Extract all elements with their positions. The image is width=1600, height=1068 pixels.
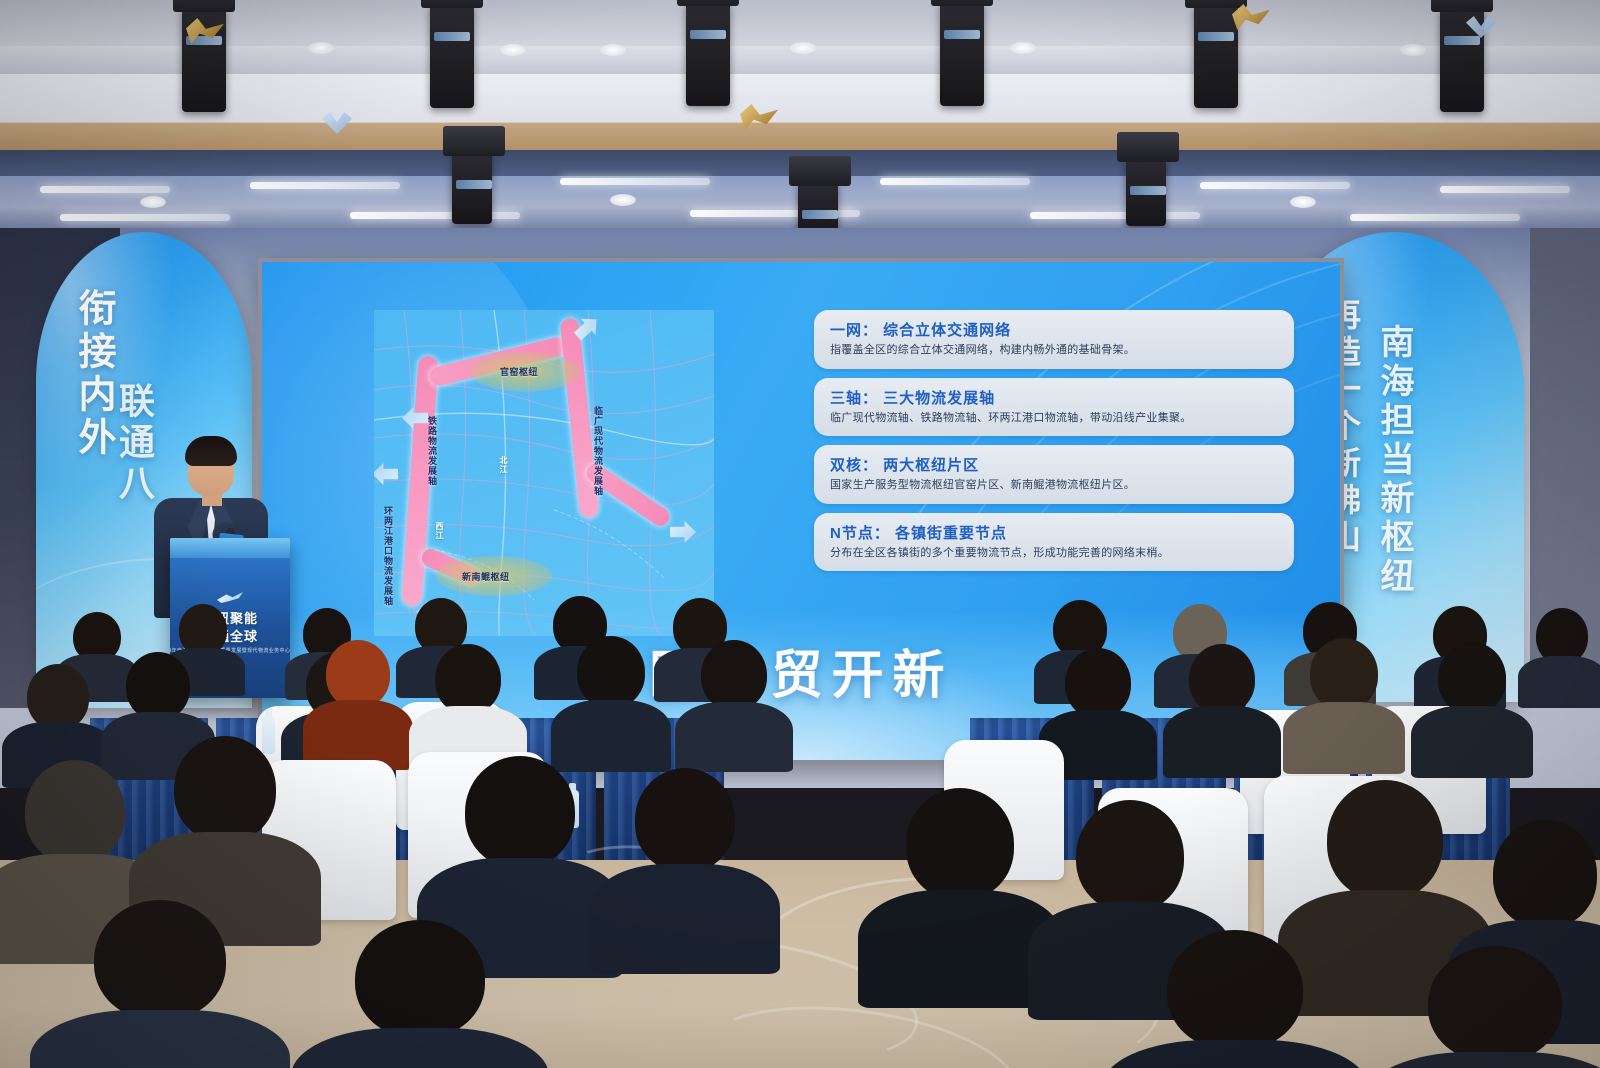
audience-member [1390,946,1600,1068]
audience-member [560,636,662,766]
audience-member [1292,638,1396,770]
audience-member [1420,642,1524,774]
audience-member [684,640,784,768]
audience-member [320,920,520,1068]
conference-hall-scene: 衔接内外 联通八 再造一个新佛山 南海担当新枢纽 [0,0,1600,1068]
audience-member [1172,644,1272,774]
audience-area [0,0,1600,1068]
audience-member [880,788,1040,1004]
audience-member [610,768,760,968]
audience-member [60,900,260,1068]
audience-member [310,640,406,766]
audience-member [1524,608,1600,702]
audience-member [1130,930,1340,1068]
